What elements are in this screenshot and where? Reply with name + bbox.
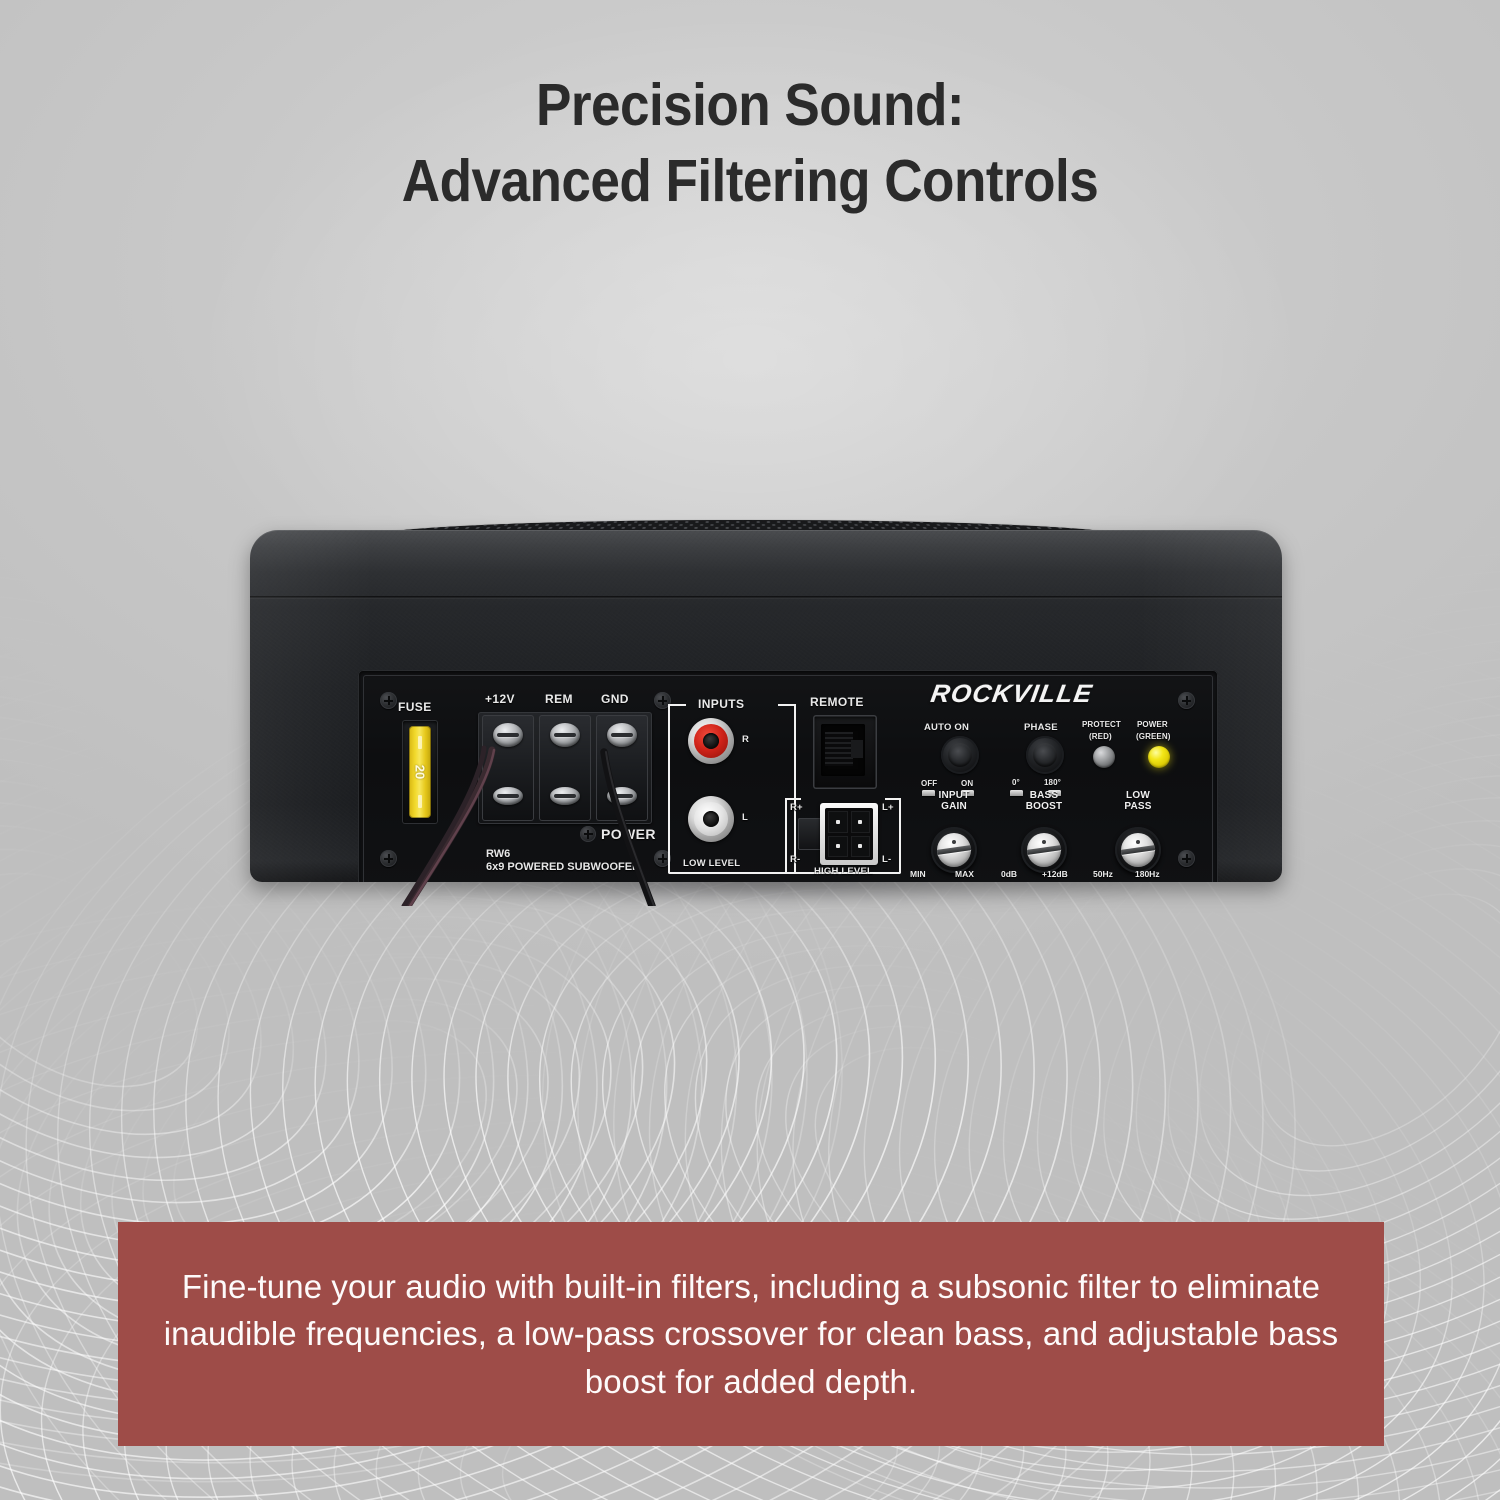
high-level-group-label: HIGH LEVEL	[814, 866, 873, 877]
auto-on-option-on: ON	[961, 779, 973, 788]
power-group: POWER	[580, 826, 656, 842]
power-led-label: POWER	[1137, 720, 1168, 729]
power-group-label: POWER	[601, 826, 656, 842]
fuse-blade-20a[interactable]: 20	[409, 726, 431, 818]
protect-led	[1093, 746, 1115, 768]
input-gain-caption: INPUT GAIN	[916, 790, 992, 812]
terminal-rem[interactable]	[539, 715, 591, 821]
phase-option-0deg: 0°	[1012, 778, 1020, 787]
enclosure-body: FUSE 20 +12V REM GND	[250, 530, 1282, 882]
input-gain-label-1: INPUT	[916, 790, 992, 801]
input-gain-max-label: MAX	[955, 869, 974, 879]
auto-on-option-off: OFF	[921, 779, 937, 788]
high-level-pin-rplus: R+	[790, 802, 803, 813]
caption-banner: Fine-tune your audio with built-in filte…	[118, 1222, 1384, 1446]
auto-on-switch[interactable]	[941, 736, 979, 774]
product-image-subwoofer: FUSE 20 +12V REM GND	[236, 486, 1296, 906]
bass-boost-label-2: BOOST	[1006, 801, 1082, 812]
input-gain-min-label: MIN	[910, 869, 926, 879]
low-pass-caption: LOW PASS	[1100, 790, 1176, 812]
panel-screw-bottom-right	[1178, 850, 1195, 867]
high-level-connector[interactable]	[820, 803, 878, 865]
power-led	[1148, 746, 1170, 768]
brand-logo-rockville: ROCKVILLE	[929, 680, 1095, 709]
inputs-group-outline	[668, 704, 796, 874]
terminal-gnd[interactable]	[596, 715, 648, 821]
panel-screw-top-left	[380, 692, 397, 709]
high-level-cable-tab	[798, 818, 822, 850]
model-designation: RW6 6x9 POWERED SUBWOOFER	[486, 848, 640, 874]
phase-label: PHASE	[1024, 722, 1058, 733]
protect-led-sublabel: (RED)	[1089, 732, 1112, 741]
bass-boost-caption: BASS BOOST	[1006, 790, 1082, 812]
caption-text: Fine-tune your audio with built-in filte…	[118, 1263, 1384, 1406]
phase-switch[interactable]	[1026, 736, 1064, 774]
power-group-screw	[580, 826, 596, 842]
low-pass-label-2: PASS	[1100, 801, 1176, 812]
high-level-pin-lplus: L+	[882, 802, 894, 813]
page-title: Precision Sound: Advanced Filtering Cont…	[75, 68, 1425, 219]
terminal-label-gnd: GND	[601, 692, 629, 706]
low-level-label: LOW LEVEL	[683, 858, 740, 869]
high-level-pin-lminus: L-	[882, 854, 891, 865]
rca-jack-left[interactable]	[688, 796, 734, 842]
rca-jack-right[interactable]	[688, 718, 734, 764]
remote-port[interactable]	[813, 715, 877, 789]
auto-on-label: AUTO ON	[924, 722, 969, 733]
remote-label: REMOTE	[810, 695, 864, 709]
fuse-holder: 20	[402, 720, 438, 824]
bass-boost-max-label: +12dB	[1042, 869, 1068, 879]
fuse-rating-value: 20	[413, 765, 428, 779]
terminal-label-rem: REM	[545, 692, 573, 706]
rca-label-right: R	[742, 734, 749, 745]
amplifier-control-panel: FUSE 20 +12V REM GND	[358, 670, 1218, 882]
power-led-sublabel: (GREEN)	[1136, 732, 1170, 741]
high-level-pin-rminus: R-	[790, 854, 800, 865]
bass-boost-min-label: 0dB	[1001, 869, 1017, 879]
model-line-1: RW6	[486, 848, 640, 861]
phase-option-180deg: 180°	[1044, 778, 1061, 787]
protect-led-label: PROTECT	[1082, 720, 1121, 729]
panel-screw-top-right	[1178, 692, 1195, 709]
low-pass-min-label: 50Hz	[1093, 869, 1113, 879]
model-line-2: 6x9 POWERED SUBWOOFER	[486, 861, 640, 874]
low-pass-max-label: 180Hz	[1135, 869, 1160, 879]
input-gain-knob[interactable]	[918, 814, 990, 882]
terminal-label-plus12v: +12V	[485, 692, 515, 706]
power-terminal-block	[478, 712, 652, 824]
panel-screw-bottom-left	[380, 850, 397, 867]
title-line-1: Precision Sound:	[75, 68, 1425, 144]
title-line-2: Advanced Filtering Controls	[75, 144, 1425, 220]
terminal-plus12v[interactable]	[482, 715, 534, 821]
rca-label-left: L	[742, 812, 748, 823]
bass-boost-label-1: BASS	[1006, 790, 1082, 801]
input-gain-label-2: GAIN	[916, 801, 992, 812]
low-pass-label-1: LOW	[1100, 790, 1176, 801]
fuse-label: FUSE	[398, 700, 432, 714]
